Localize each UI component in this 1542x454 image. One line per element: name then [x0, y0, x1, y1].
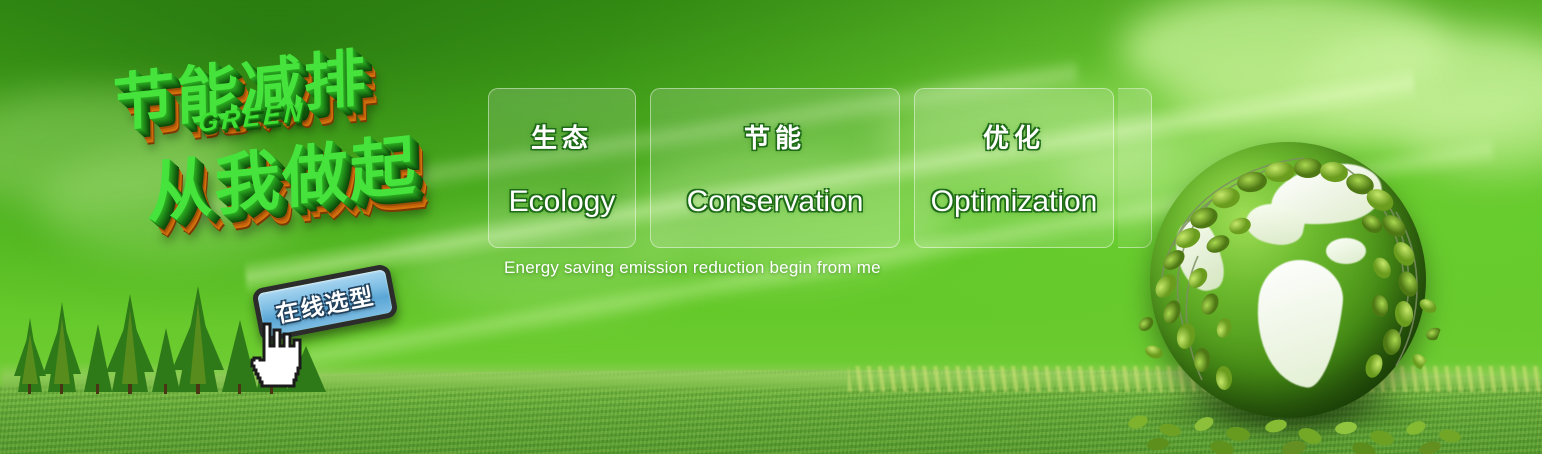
continent-greenland: [1169, 216, 1229, 297]
continent-south-america: [1249, 255, 1348, 390]
cloud-decoration: [1120, 0, 1450, 110]
main-logo: 节能减排 GREEN 从我做起: [98, 38, 478, 268]
hand-pointer-icon: [240, 320, 316, 396]
globe-sphere: [1150, 142, 1426, 418]
ivy-covered-earth-globe: [1128, 128, 1448, 448]
feature-box-optimization[interactable]: 优化 Optimization: [914, 88, 1114, 248]
hand-pointer-glyph: [240, 320, 316, 396]
feature-label-cn: 生态: [531, 118, 593, 155]
feature-box-group: 生态 Ecology 节能 Conservation 优化 Optimizati…: [488, 88, 1114, 248]
feature-box-conservation[interactable]: 节能 Conservation: [650, 88, 900, 248]
feature-label-cn: 节能: [744, 118, 806, 155]
feature-label-cn: 优化: [983, 118, 1045, 155]
banner-subtitle: Energy saving emission reduction begin f…: [504, 258, 881, 278]
eco-promo-banner: 节能减排 GREEN 从我做起 在线选型 生态 Ecology 节能 Conse…: [0, 0, 1542, 454]
feature-box-ecology[interactable]: 生态 Ecology: [488, 88, 636, 248]
feature-label-en: Conservation: [687, 185, 864, 219]
feature-label-en: Ecology: [509, 185, 616, 219]
cloud-decoration: [1300, 30, 1542, 140]
feature-label-en: Optimization: [931, 185, 1098, 219]
continent-europe: [1326, 238, 1366, 264]
